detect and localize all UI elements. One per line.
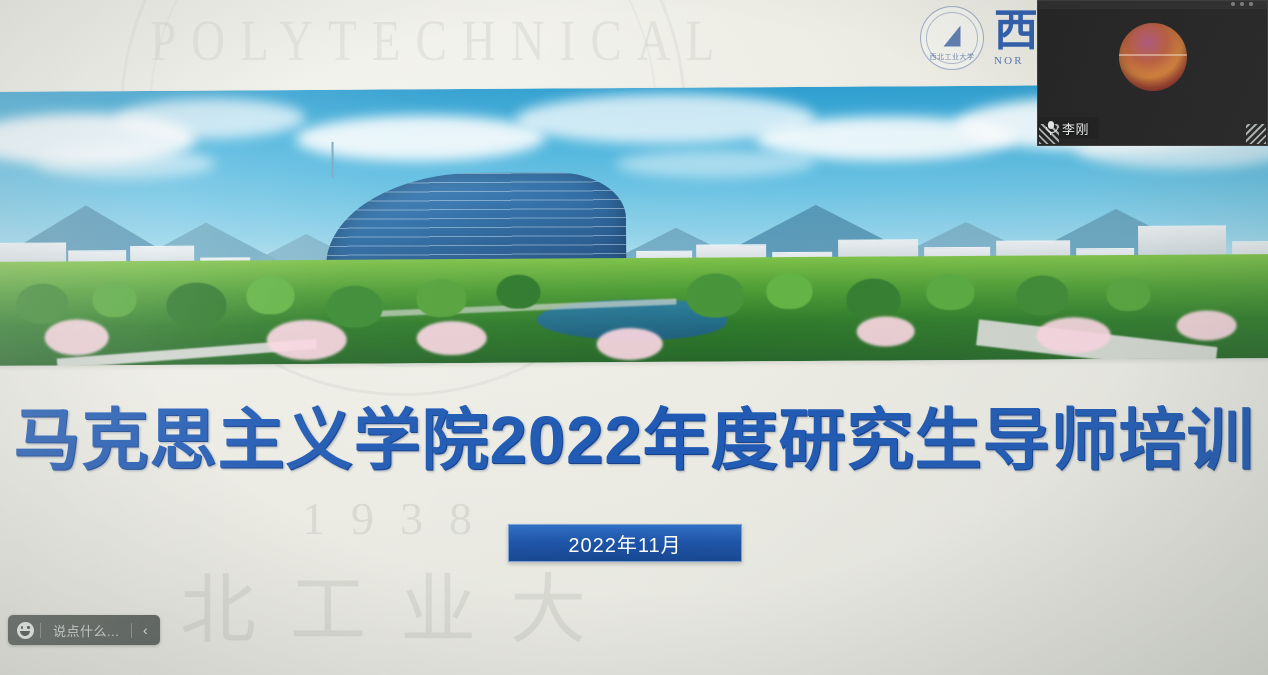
chat-collapse-button[interactable]: ‹ bbox=[132, 615, 158, 645]
screen-capture: POLYTECHNICAL 1938 北工业大 西北工业大学 西 NOR bbox=[0, 0, 1268, 675]
flag-mast bbox=[331, 142, 333, 178]
slide-title: 马克思主义学院2022年度研究生导师培训 bbox=[0, 386, 1268, 483]
video-tile-controls-icon[interactable] bbox=[1231, 2, 1253, 6]
university-seal-icon: 西北工业大学 bbox=[920, 6, 984, 70]
chat-input-bar[interactable]: 说点什么... ‹ bbox=[8, 615, 160, 645]
slide-date-badge: 2022年11月 bbox=[508, 524, 742, 562]
university-name-en: NOR bbox=[994, 56, 1040, 68]
video-tile-resize-handle[interactable] bbox=[1246, 124, 1266, 144]
participant-avatar bbox=[1119, 23, 1187, 91]
seal-emblem-icon bbox=[944, 25, 961, 46]
university-logo-group: 西北工业大学 西 NOR bbox=[920, 6, 1040, 70]
emoji-smiley-icon bbox=[17, 622, 34, 639]
participant-name: 李刚 bbox=[1062, 119, 1089, 138]
participant-video-tile[interactable]: 李刚 bbox=[1037, 0, 1268, 146]
seal-label: 西北工业大学 bbox=[921, 52, 983, 62]
university-name-cn: 西 bbox=[994, 8, 1040, 54]
video-tile-resize-handle-left[interactable] bbox=[1039, 124, 1059, 144]
video-tile-toolbar[interactable] bbox=[1038, 1, 1267, 9]
chat-input[interactable]: 说点什么... bbox=[41, 621, 131, 640]
university-names: 西 NOR bbox=[994, 8, 1040, 68]
emoji-button[interactable] bbox=[10, 615, 40, 645]
